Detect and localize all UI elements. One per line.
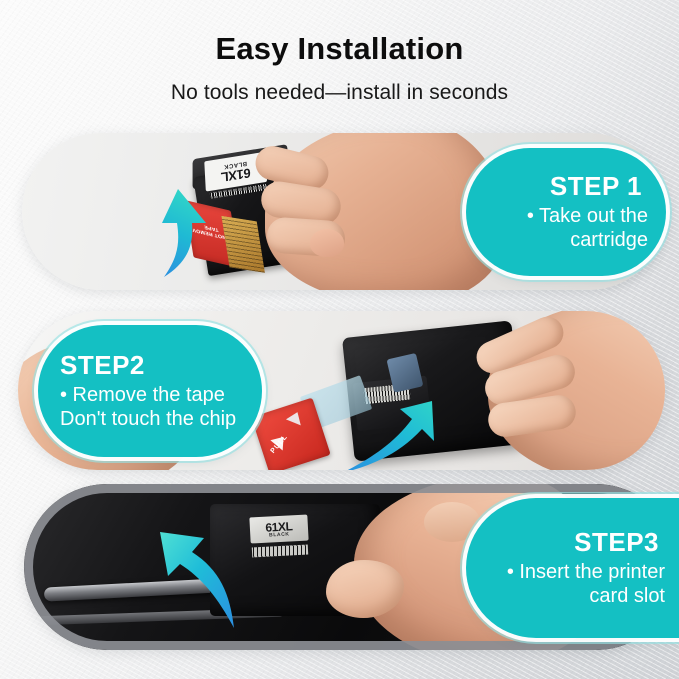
step-1-title: STEP 1 (488, 172, 642, 201)
step-3-callout: STEP3 • Insert the printer card slot (466, 498, 679, 638)
step-2-description: • Remove the tape Don't touch the chip (60, 384, 246, 431)
step-2-desc-line-2: Don't touch the chip (60, 408, 246, 432)
step-2-callout: STEP2 • Remove the tape Don't touch the … (38, 325, 262, 457)
step-3-title: STEP3 (488, 528, 659, 557)
header: Easy Installation No tools needed—instal… (0, 0, 679, 105)
step-1-desc-line-1: • Take out the (488, 205, 648, 229)
step-1-callout: STEP 1 • Take out the cartridge (466, 148, 666, 276)
page-subtitle: No tools needed—install in seconds (0, 81, 679, 105)
step-3-desc-line-2: card slot (488, 585, 665, 609)
page-title: Easy Installation (0, 31, 679, 67)
thumb (310, 229, 344, 257)
step-3-description: • Insert the printer card slot (488, 561, 665, 608)
step-1-description: • Take out the cartridge (488, 205, 648, 252)
step-1-desc-line-2: cartridge (488, 229, 648, 253)
step-2-desc-line-1: • Remove the tape (60, 384, 246, 408)
cartridge-cap (387, 353, 424, 393)
step-3-desc-line-1: • Insert the printer (488, 561, 665, 585)
step-2-title: STEP2 (60, 351, 246, 380)
